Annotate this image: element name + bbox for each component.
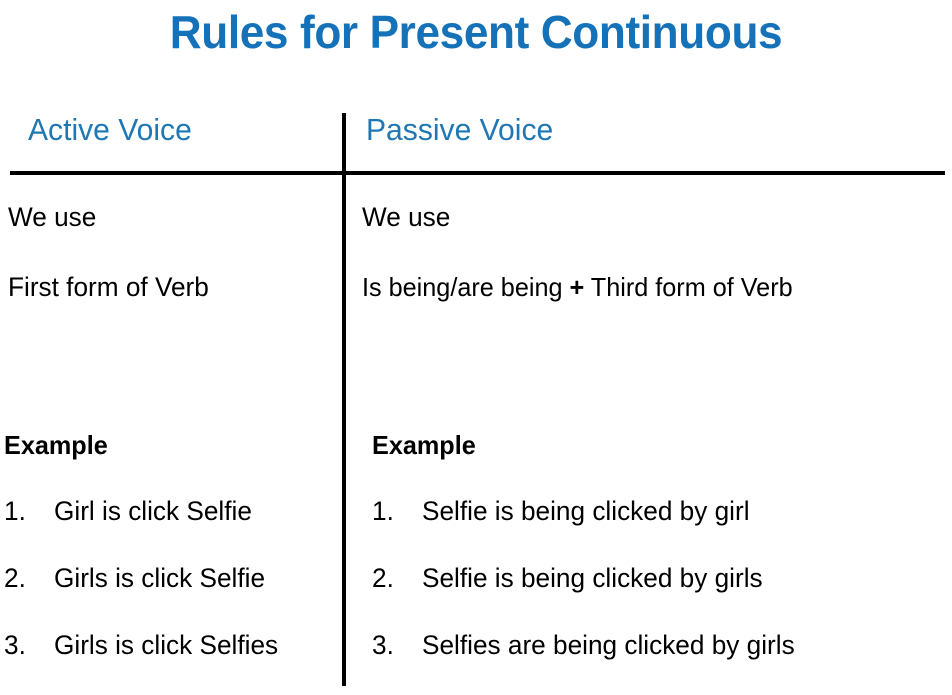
list-item-number: 1. [4,494,53,528]
list-item-text: Selfie is being clicked by girl [422,494,750,528]
list-item-number: 2. [372,561,421,595]
list-item-text: Girl is click Selfie [54,494,252,528]
column-header-passive-voice: Passive Voice [366,111,553,149]
active-rule-intro: We use [8,200,96,234]
slide-canvas: Rules for Present Continuous Active Voic… [0,0,952,686]
list-item-number: 1. [372,494,421,528]
active-example-list: 1.Girl is click Selfie 2.Girls is click … [4,494,285,695]
list-item: 2.Girls is click Selfie [4,561,285,628]
list-item-text: Selfie is being clicked by girls [422,561,763,595]
list-item-text: Girls is click Selfies [54,628,278,662]
column-header-active-voice: Active Voice [28,111,192,149]
header-divider-horizontal [10,171,945,175]
passive-rule-formula-plus: + [570,272,585,302]
list-item-number: 3. [372,628,421,662]
passive-example-heading: Example [372,428,476,462]
passive-rule-formula-prefix: Is being/are being [362,272,570,302]
list-item: 2.Selfie is being clicked by girls [372,561,806,628]
list-item-number: 3. [4,628,53,662]
list-item: 3.Selfies are being clicked by girls [372,628,806,695]
passive-example-list: 1.Selfie is being clicked by girl 2.Self… [372,494,806,695]
list-item: 1.Selfie is being clicked by girl [372,494,806,561]
passive-rule-formula: Is being/are being + Third form of Verb [362,270,793,304]
list-item-text: Selfies are being clicked by girls [422,628,795,662]
passive-rule-formula-suffix: Third form of Verb [584,272,792,302]
list-item-text: Girls is click Selfie [54,561,265,595]
page-title: Rules for Present Continuous [19,6,933,58]
active-example-heading: Example [4,428,108,462]
passive-rule-intro: We use [362,200,450,234]
active-rule-formula: First form of Verb [8,270,209,304]
column-divider-vertical [342,113,346,686]
list-item: 3.Girls is click Selfies [4,628,285,695]
list-item: 1.Girl is click Selfie [4,494,285,561]
list-item-number: 2. [4,561,53,595]
